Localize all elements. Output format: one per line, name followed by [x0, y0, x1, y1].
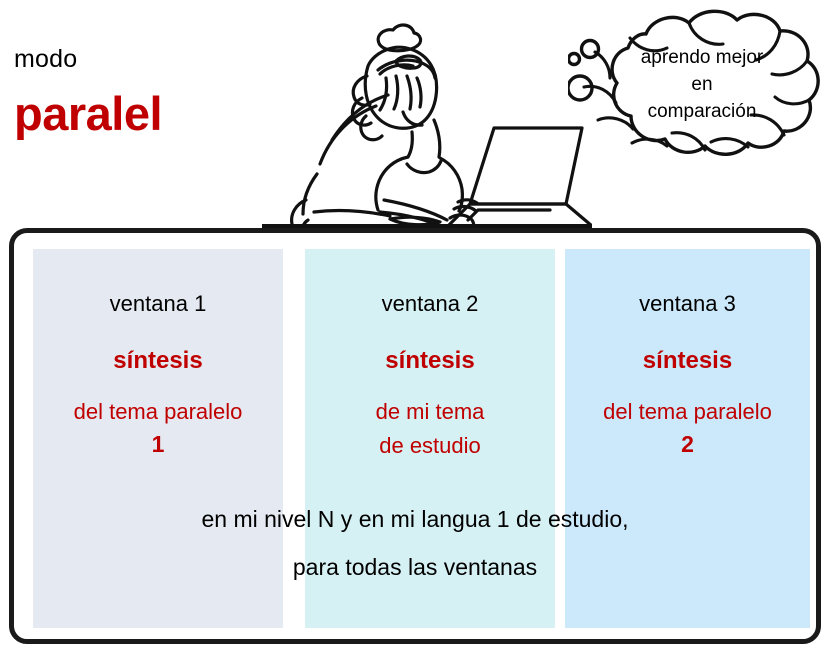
thought-bubble-text: aprendo mejor en comparación [606, 44, 798, 125]
header: modo paralel [0, 0, 834, 228]
column-1-description: del tema paralelo [33, 395, 283, 429]
column-2-heading: síntesis [305, 347, 555, 375]
column-1-number: 1 [33, 429, 283, 459]
panel: ventana 1 síntesis del tema paralelo 1 v… [9, 228, 821, 644]
column-2-description: de mi tema de estudio [305, 395, 555, 463]
column-2-title: ventana 2 [305, 291, 555, 317]
column-1-title: ventana 1 [33, 291, 283, 317]
page-title: paralel [14, 86, 274, 142]
title-block: modo paralel [14, 44, 274, 142]
column-1-heading: síntesis [33, 347, 283, 375]
column-3-description: del tema paralelo [565, 395, 810, 429]
column-ventana-1[interactable]: ventana 1 síntesis del tema paralelo 1 [33, 249, 283, 628]
person-at-laptop-icon [262, 4, 592, 228]
column-ventana-2[interactable]: ventana 2 síntesis de mi tema de estudio [305, 249, 555, 628]
title-kicker: modo [14, 44, 274, 74]
columns-container: ventana 1 síntesis del tema paralelo 1 v… [14, 233, 816, 639]
column-3-title: ventana 3 [565, 291, 810, 317]
column-3-number: 2 [565, 429, 810, 459]
column-ventana-3[interactable]: ventana 3 síntesis del tema paralelo 2 [565, 249, 810, 628]
column-3-heading: síntesis [565, 347, 810, 375]
